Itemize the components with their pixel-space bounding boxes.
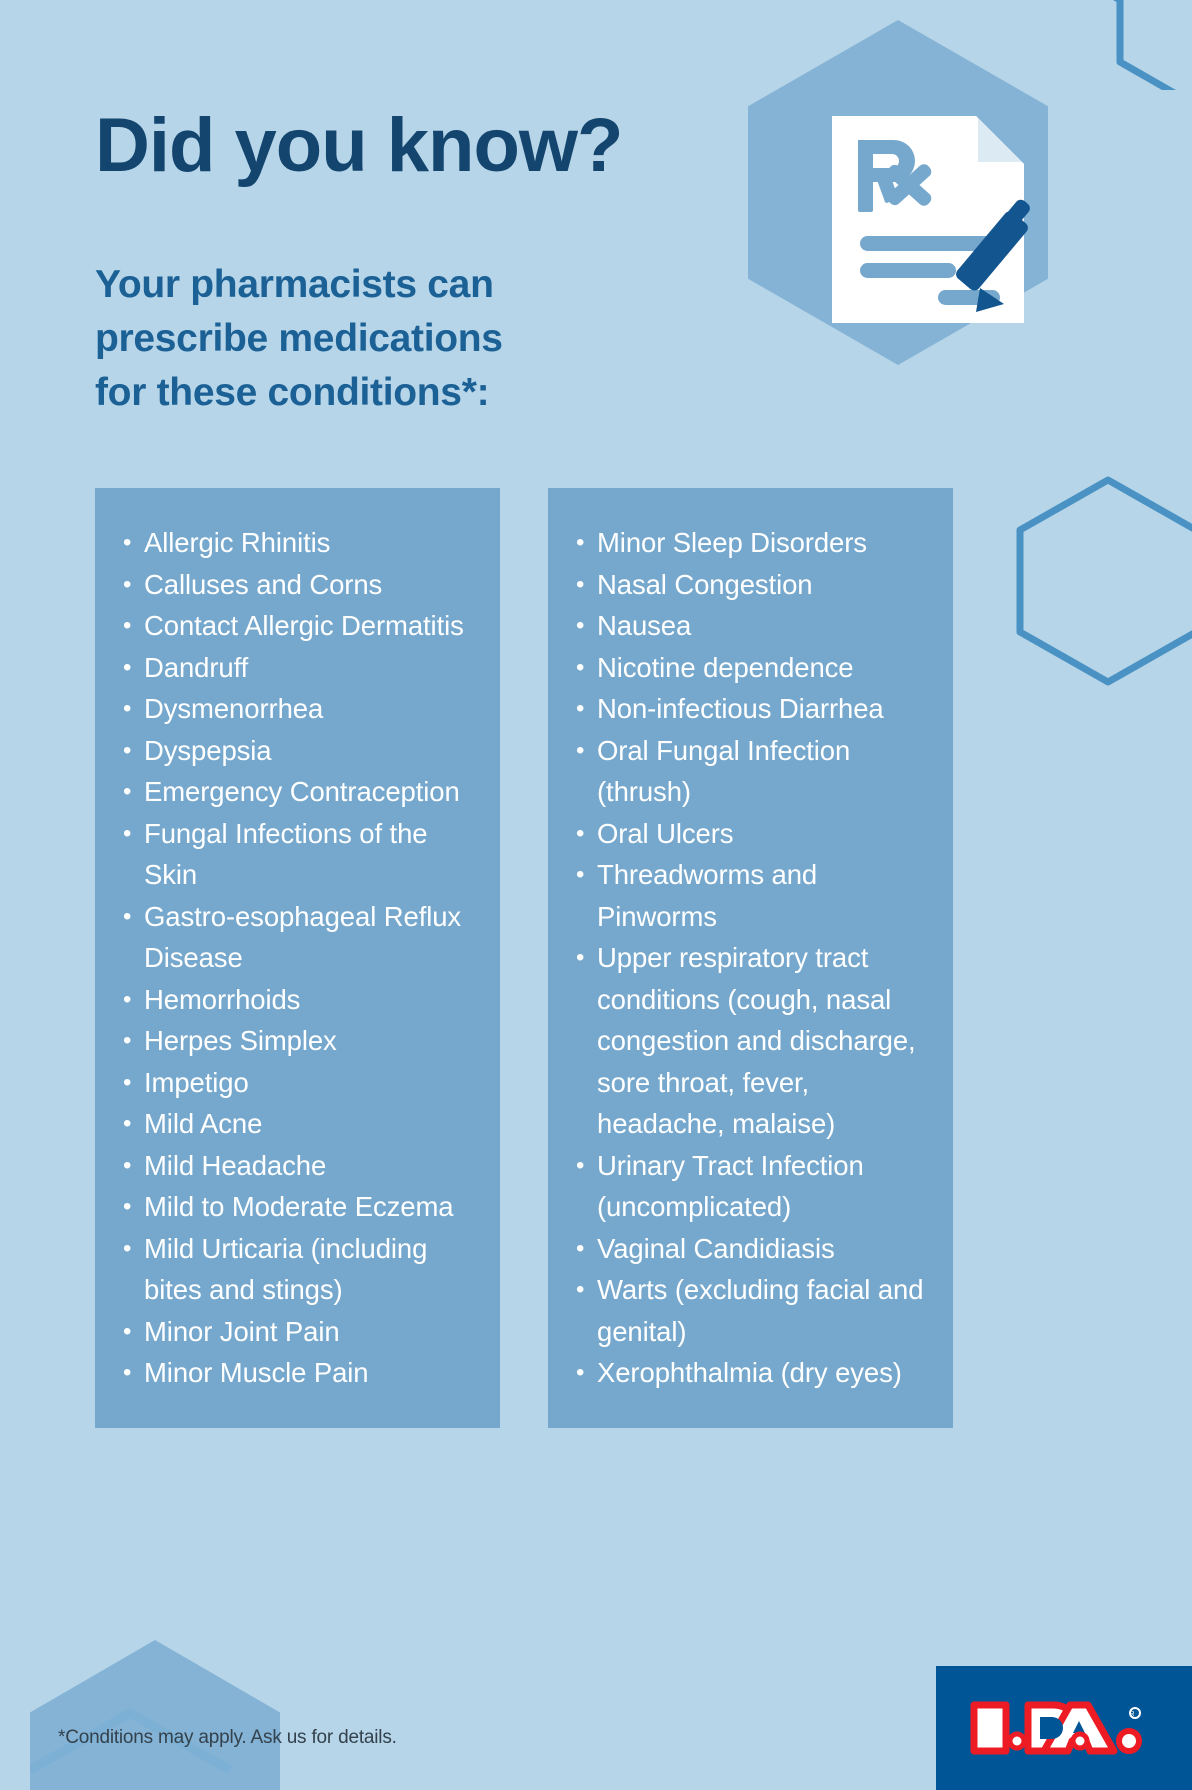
list-item: Minor Sleep Disorders [570,522,935,564]
conditions-panel-right: Minor Sleep Disorders Nasal Congestion N… [548,488,953,1428]
prescription-document-icon [828,112,1038,327]
svg-text:R: R [1129,1711,1134,1718]
list-item: Upper respiratory tract conditions (coug… [570,937,935,1145]
list-item: Impetigo [117,1062,482,1104]
list-item: Oral Fungal Infection (thrush) [570,730,935,813]
list-item: Calluses and Corns [117,564,482,606]
list-item: Mild to Moderate Eczema [117,1186,482,1228]
list-item: Warts (excluding facial and genital) [570,1269,935,1352]
list-item: Dysmenorrhea [117,688,482,730]
conditions-panel-left: Allergic Rhinitis Calluses and Corns Con… [95,488,500,1428]
list-item: Dandruff [117,647,482,689]
conditions-list-left: Allergic Rhinitis Calluses and Corns Con… [117,522,482,1394]
hexagon-outline-top-right [1040,0,1192,90]
ida-logo-svg: R [966,1697,1162,1759]
list-item: Mild Headache [117,1145,482,1187]
conditions-list-right: Minor Sleep Disorders Nasal Congestion N… [570,522,935,1394]
list-item: Nasal Congestion [570,564,935,606]
list-item: Contact Allergic Dermatitis [117,605,482,647]
list-item: Minor Joint Pain [117,1311,482,1353]
list-item: Threadworms and Pinworms [570,854,935,937]
list-item: Mild Urticaria (including bites and stin… [117,1228,482,1311]
list-item: Gastro-esophageal Reflux Disease [117,896,482,979]
hexagon-outline-bottom-left [30,1620,260,1790]
prescription-icon-svg [828,112,1038,327]
list-item: Hemorrhoids [117,979,482,1021]
list-item: Dyspepsia [117,730,482,772]
list-item: Urinary Tract Infection (uncomplicated) [570,1145,935,1228]
list-item: Nicotine dependence [570,647,935,689]
list-item: Mild Acne [117,1103,482,1145]
list-item: Minor Muscle Pain [117,1352,482,1394]
conditions-columns: Allergic Rhinitis Calluses and Corns Con… [95,488,1097,1428]
list-item: Vaginal Candidiasis [570,1228,935,1270]
ida-logo: R [936,1666,1192,1790]
subheadline-line-3: for these conditions*: [95,366,755,420]
list-item: Herpes Simplex [117,1020,482,1062]
list-item: Emergency Contraception [117,771,482,813]
poster-root: Did you know? Your pharmacists can presc… [0,0,1192,1790]
list-item: Oral Ulcers [570,813,935,855]
list-item: Xerophthalmia (dry eyes) [570,1352,935,1394]
page-title: Did you know? [95,108,755,184]
subheadline: Your pharmacists can prescribe medicatio… [95,258,755,419]
list-item: Non-infectious Diarrhea [570,688,935,730]
header-block: Did you know? Your pharmacists can presc… [95,108,755,419]
hexagon-shape-bottom-left [30,1640,280,1790]
list-item: Allergic Rhinitis [117,522,482,564]
subheadline-line-2: prescribe medications [95,312,755,366]
footnote-text: *Conditions may apply. Ask us for detail… [58,1727,397,1749]
list-item: Nausea [570,605,935,647]
list-item: Fungal Infections of the Skin [117,813,482,896]
subheadline-line-1: Your pharmacists can [95,258,755,312]
